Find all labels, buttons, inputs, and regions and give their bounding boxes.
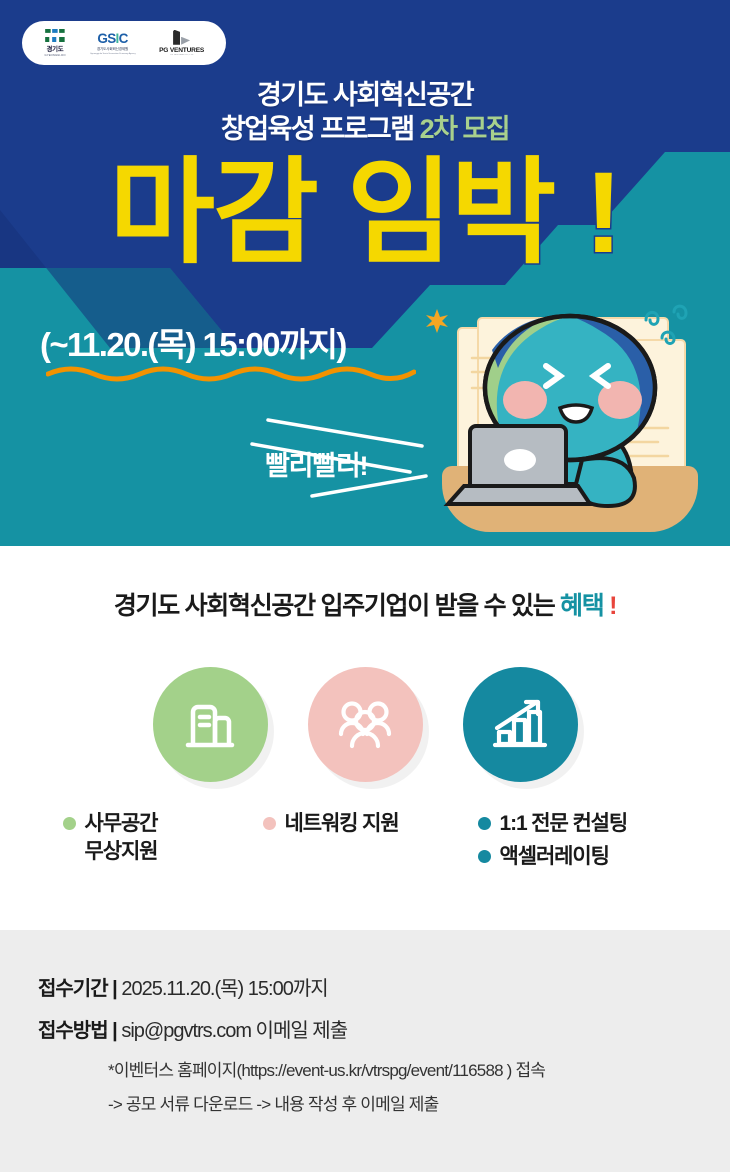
hero-headline: 마감 임박 !	[0, 156, 730, 271]
gyeonggi-mark-icon	[45, 29, 65, 42]
application-period-value: 2025.11.20.(목) 15:00까지	[117, 978, 328, 1000]
legend-dot-icon	[478, 817, 491, 830]
poster-root: 경기도 GYEONGGI-DO GSIC 경기도사회혁신경제원 Gyeonggi…	[0, 0, 730, 1172]
benefit-legend: 사무공간무상지원 네트워킹 지원 1:1 전문 컨설팅 액셀러레이팅	[0, 810, 730, 870]
logo-gsic: GSIC 경기도사회혁신경제원 Gyeonggi-do Social Innov…	[88, 32, 138, 55]
logo-pg-ventures: PG VENTURES PG VENTURES CO., LTD.	[159, 30, 204, 57]
benefit-icon-row	[0, 667, 730, 782]
footer-section: 접수기간 | 2025.11.20.(목) 15:00까지 접수방법 | sip…	[0, 930, 730, 1172]
legend-dot-icon	[263, 817, 276, 830]
legend-column-2: 네트워킹 지원	[263, 810, 458, 870]
application-note-2: -> 공모 서류 다운로드 -> 내용 작성 후 이메일 제출	[108, 1090, 730, 1115]
application-method-line: 접수방법 | sip@pgvtrs.com 이메일 제출	[38, 1014, 730, 1043]
application-period-line: 접수기간 | 2025.11.20.(목) 15:00까지	[38, 972, 730, 1001]
legend-label: 1:1 전문 컨설팅	[500, 810, 628, 838]
pg-ventures-mark-icon	[173, 30, 190, 45]
growth-chart-icon	[463, 667, 578, 782]
logo-gyeonggi-sub: GYEONGGI-DO	[44, 53, 65, 57]
legend-item: 사무공간무상지원	[63, 810, 243, 865]
logo-gsic-sub2: Gyeonggi-do Social Innovation Economy Ag…	[90, 53, 136, 55]
benefits-title-bang: !	[603, 592, 616, 620]
hero-section: 경기도 GYEONGGI-DO GSIC 경기도사회혁신경제원 Gyeonggi…	[0, 0, 730, 546]
hero-subtitle-line2: 창업육성 프로그램 2차 모집	[0, 112, 730, 146]
legend-dot-icon	[63, 817, 76, 830]
logo-gyeonggi-name: 경기도	[47, 44, 64, 53]
legend-label: 액셀러레이팅	[500, 843, 609, 871]
application-method-label: 접수방법 |	[38, 1020, 117, 1042]
office-building-icon	[153, 667, 268, 782]
logo-gsic-sub: 경기도사회혁신경제원	[97, 47, 128, 52]
hero-subtitle-accent: 2차 모집	[420, 114, 510, 144]
hero-subtitle-line1: 경기도 사회혁신공간	[257, 80, 473, 110]
logo-pg-sub: PG VENTURES CO., LTD.	[170, 54, 193, 56]
legend-label: 사무공간무상지원	[85, 810, 158, 865]
logo-gyeonggi-do: 경기도 GYEONGGI-DO	[44, 29, 66, 57]
legend-column-3: 1:1 전문 컨설팅 액셀러레이팅	[478, 810, 678, 870]
hero-deadline-text: (~11.20.(목) 15:00까지)	[40, 318, 346, 366]
gsic-wordmark-icon: GSIC	[97, 32, 127, 46]
cheek-left	[503, 381, 547, 419]
legend-item: 1:1 전문 컨설팅	[478, 810, 678, 838]
logo-pg-name: PG VENTURES	[159, 47, 204, 54]
legend-item: 액셀러레이팅	[478, 843, 678, 871]
star-sparkle-icon	[424, 308, 450, 334]
application-period-label: 접수기간 |	[38, 978, 117, 1000]
legend-label: 네트워킹 지원	[285, 810, 399, 838]
benefits-title-highlight: 혜택	[560, 592, 603, 620]
benefits-title-lead: 경기도 사회혁신공간 입주기업이 받을 수 있는	[114, 592, 560, 620]
people-network-icon	[308, 667, 423, 782]
legend-item: 네트워킹 지원	[263, 810, 458, 838]
legend-column-1: 사무공간무상지원	[63, 810, 243, 870]
sponsor-logo-bar: 경기도 GYEONGGI-DO GSIC 경기도사회혁신경제원 Gyeonggi…	[22, 21, 226, 65]
benefits-title: 경기도 사회혁신공간 입주기업이 받을 수 있는 혜택 !	[0, 546, 730, 622]
application-note-1: *이벤터스 홈페이지(https://event-us.kr/vtrspg/ev…	[108, 1056, 730, 1081]
wavy-underline-icon	[46, 362, 416, 382]
mouth-icon	[560, 405, 592, 422]
hero-subtitle: 경기도 사회혁신공간 창업육성 프로그램 2차 모집	[0, 78, 730, 146]
doodle-swirl-icon	[640, 302, 710, 347]
benefits-section: 경기도 사회혁신공간 입주기업이 받을 수 있는 혜택 !	[0, 546, 730, 930]
application-method-value: sip@pgvtrs.com 이메일 제출	[117, 1020, 347, 1042]
legend-dot-icon	[478, 850, 491, 863]
hero-urgency-bubble: 빨리빨리!	[265, 444, 367, 483]
